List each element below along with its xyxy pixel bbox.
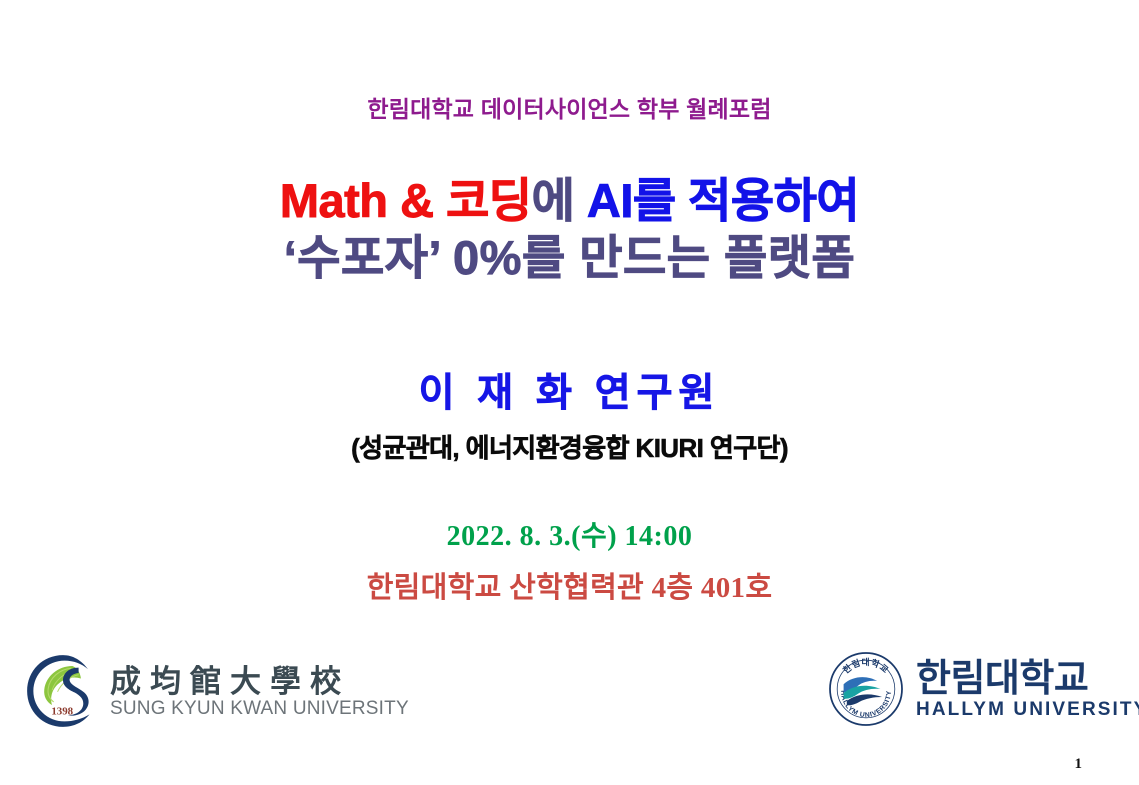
hallym-logo-text: 한림대학교 HALLYM UNIVERSITY [916,660,1139,722]
hallym-roman-name: HALLYM UNIVERSITY [916,699,1139,722]
skku-roman-name: SUNG KYUN KWAN UNIVERSITY [110,698,409,720]
event-datetime: 2022. 8. 3.(수) 14:00 [0,514,1139,554]
speaker-name: 이 재 화 연구원 [0,362,1139,418]
skku-emblem-icon: 1398 [24,652,102,735]
skku-hanja-name: 成均館大學校 [110,666,409,699]
title-line-2: ‘수포자’ 0%를 만드는 플랫폼 [0,229,1139,287]
forum-header-text: 한림대학교 데이터사이언스 학부 월례포럼 [0,90,1139,124]
skku-logo-text: 成均館大學校 SUNG KYUN KWAN UNIVERSITY [110,666,409,720]
hallym-logo: 한림대학교 HALLYM UNIVERSITY 한림대학교 HALLYM UNI… [826,648,1122,734]
event-venue: 한림대학교 산학협력관 4층 401호 [0,564,1139,606]
hallym-emblem-icon: 한림대학교 HALLYM UNIVERSITY [826,649,906,734]
title-segment-particle-e: 에 [532,174,575,227]
title-line-1: Math & 코딩에 AI를 적용하여 [0,172,1139,229]
seminar-title-slide: 한림대학교 데이터사이언스 학부 월례포럼 Math & 코딩에 AI를 적용하… [0,0,1139,785]
skku-founded-year: 1398 [51,705,73,717]
skku-logo: 1398 成均館大學校 SUNG KYUN KWAN UNIVERSITY [24,652,344,734]
title-segment-math-coding: Math & 코딩 [280,174,532,227]
main-title-block: Math & 코딩에 AI를 적용하여 ‘수포자’ 0%를 만드는 플랫폼 [0,172,1139,287]
page-number: 1 [1075,756,1083,773]
hallym-korean-name: 한림대학교 [916,660,1139,700]
title-segment-ai-applied: AI를 적용하여 [574,174,859,227]
speaker-affiliation: (성균관대, 에너지환경융합 KIURI 연구단) [0,428,1139,465]
